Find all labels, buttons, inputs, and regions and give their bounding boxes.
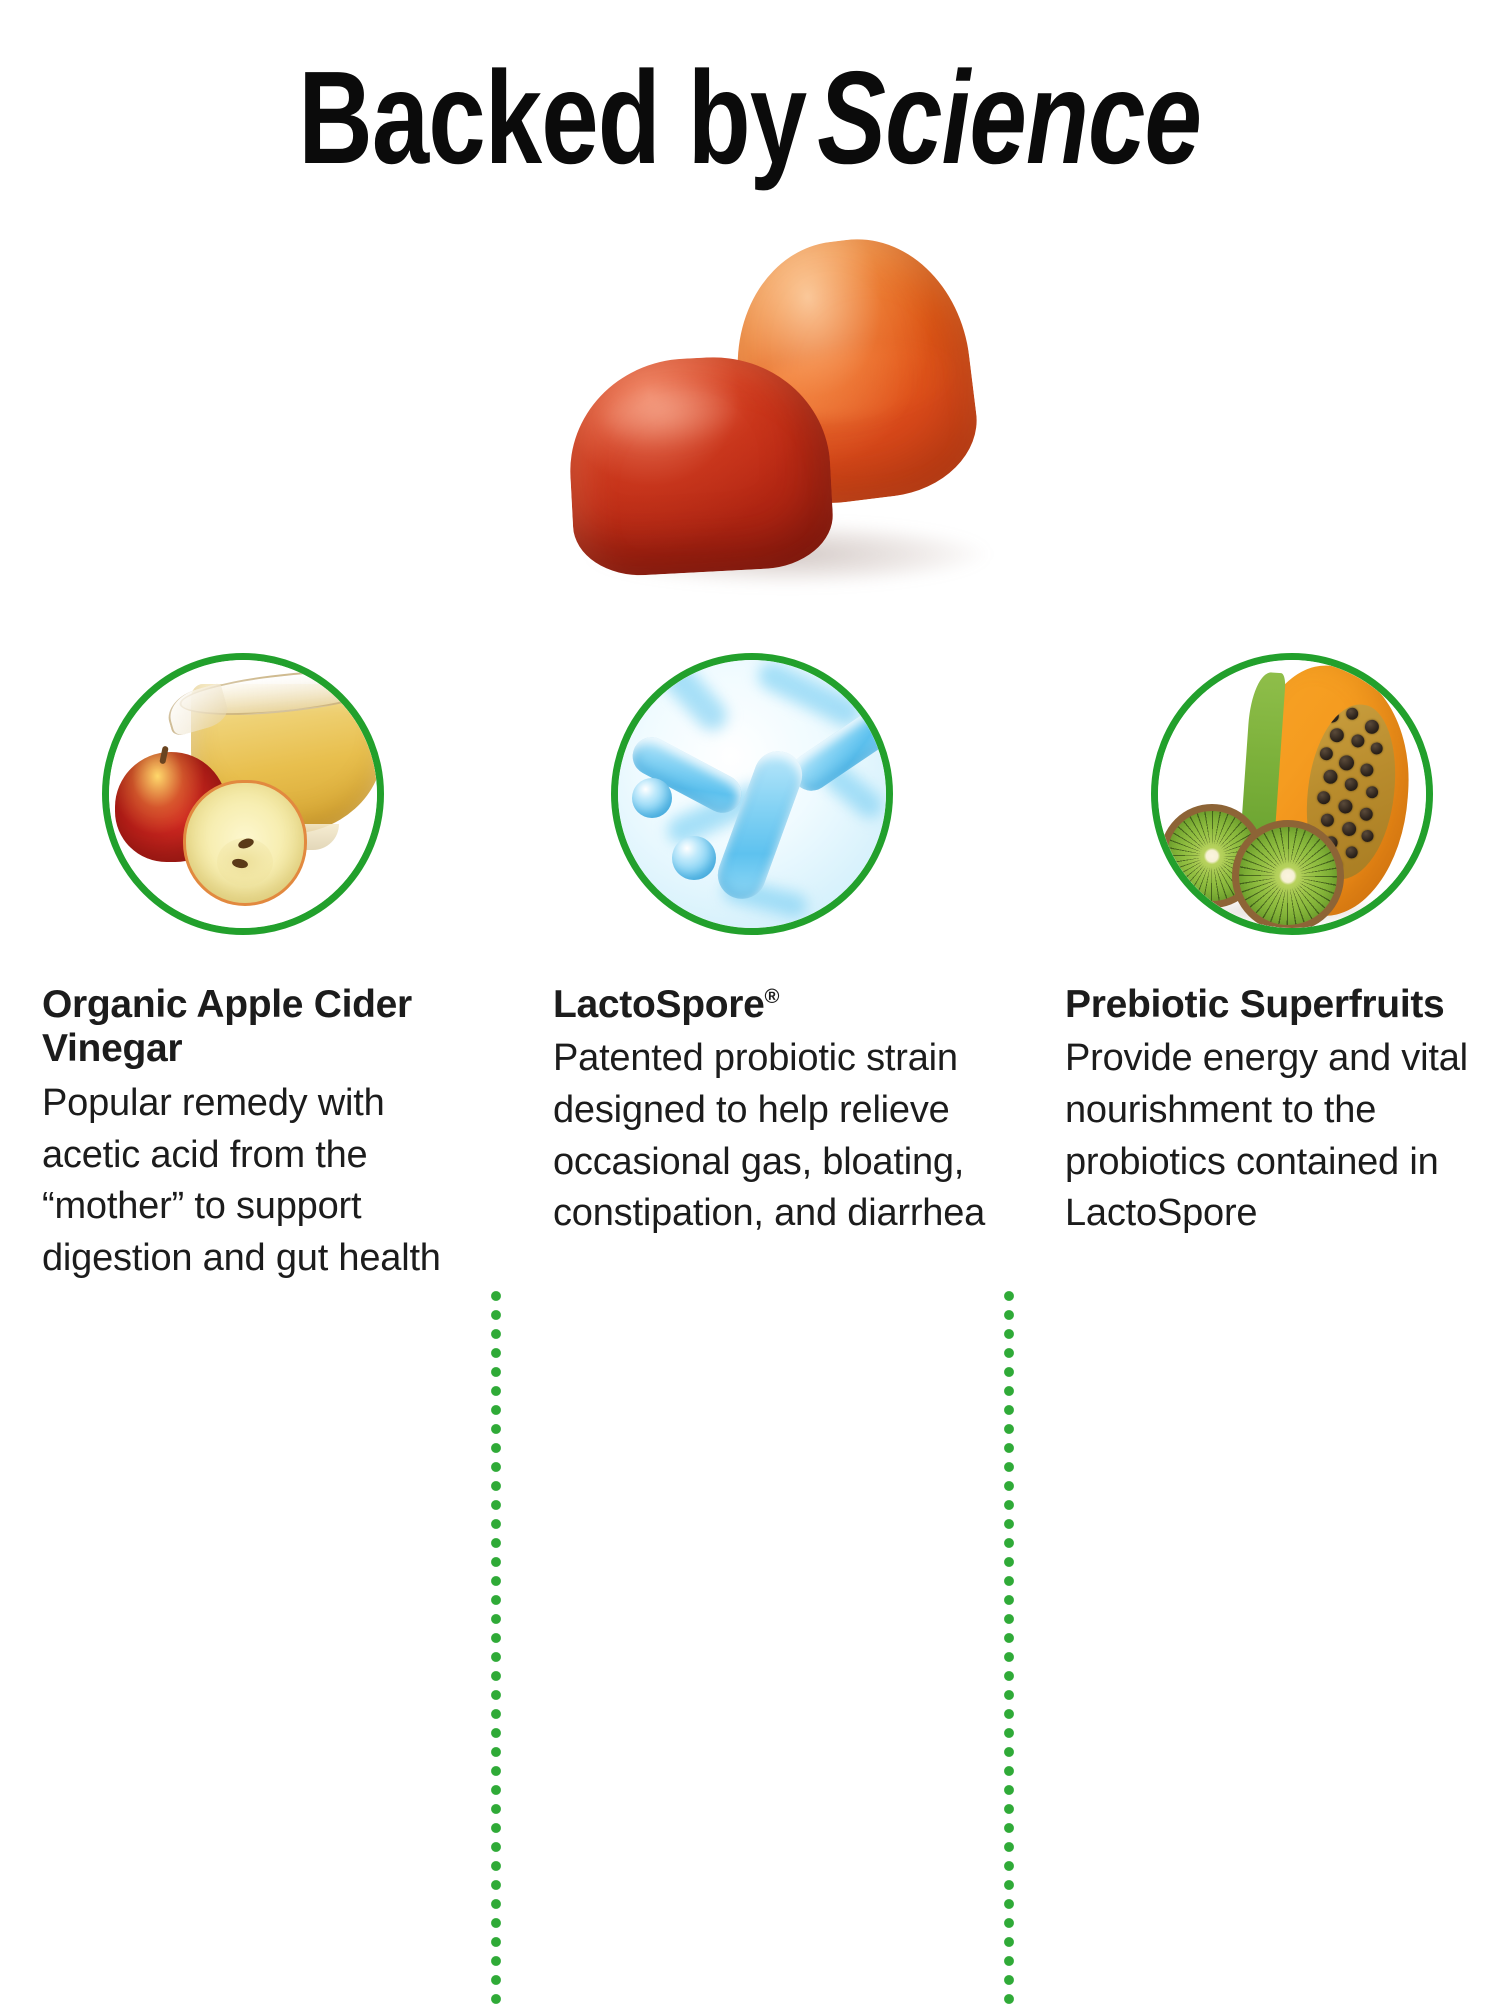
superfruits-papaya-kiwi-photo <box>1158 660 1426 928</box>
page-title-accent: Science <box>818 44 1202 191</box>
papaya-seed <box>1360 763 1374 777</box>
probiotic-bacteria-photo <box>618 660 886 928</box>
papaya-seed <box>1317 791 1331 805</box>
lactospore-heading: LactoSpore® <box>553 983 1001 1027</box>
papaya-seed <box>1345 846 1358 859</box>
benefit-column-superfruits: Prebiotic Superfruits Provide energy and… <box>1055 640 1500 1366</box>
papaya-seed <box>1344 777 1358 791</box>
lactospore-heading-text: LactoSpore <box>553 983 765 1026</box>
dotted-divider-1 <box>490 1290 502 2006</box>
bacteria-coccus <box>632 778 672 818</box>
papaya-seed <box>1346 707 1359 720</box>
bacteria-rod-blurred <box>647 660 734 737</box>
lactospore-text-block: LactoSpore® Patented probiotic strain de… <box>545 983 1005 1240</box>
papaya-seed <box>1338 799 1353 814</box>
registered-trademark-icon: ® <box>765 986 780 1008</box>
hero-product-image <box>546 222 1046 622</box>
papaya-seed <box>1319 747 1333 761</box>
benefit-columns: Organic Apple Cider Vinegar Popular reme… <box>0 640 1500 1366</box>
dotted-divider-2 <box>1003 1290 1015 2006</box>
apple-cider-vinegar-photo <box>109 660 377 928</box>
halved-apple <box>183 780 307 906</box>
superfruits-text-block: Prebiotic Superfruits Provide energy and… <box>1055 983 1500 1240</box>
papaya-seed <box>1370 742 1383 755</box>
lactospore-circle-frame <box>611 653 893 935</box>
papaya-seed <box>1341 821 1356 836</box>
papaya-seed <box>1365 786 1378 799</box>
papaya-seed <box>1325 709 1339 723</box>
papaya-seed <box>1323 769 1338 784</box>
acv-heading: Organic Apple Cider Vinegar <box>42 983 486 1072</box>
papaya-seed <box>1329 728 1344 743</box>
papaya-seed <box>1361 829 1374 842</box>
papaya-seed <box>1320 813 1334 827</box>
acv-body: Popular remedy with acetic acid from the… <box>42 1078 482 1285</box>
page-title-main: Backed by <box>299 44 807 191</box>
superfruits-heading: Prebiotic Superfruits <box>1065 983 1500 1027</box>
benefit-column-lactospore: LactoSpore® Patented probiotic strain de… <box>545 640 1005 1366</box>
papaya-seed <box>1351 734 1365 748</box>
kiwi-half <box>1232 820 1344 928</box>
superfruits-body: Provide energy and vital nourishment to … <box>1065 1033 1500 1240</box>
bacteria-coccus <box>672 836 716 880</box>
lactospore-body: Patented probiotic strain designed to he… <box>553 1033 1001 1240</box>
papaya-seed <box>1359 807 1373 821</box>
page-title: Backed byScience <box>0 52 1500 184</box>
papaya-seed <box>1338 755 1354 771</box>
kiwi-rays <box>1239 827 1337 925</box>
bacteria-rod-blurred <box>753 660 864 731</box>
acv-text-block: Organic Apple Cider Vinegar Popular reme… <box>30 983 490 1285</box>
superfruits-circle-frame <box>1151 653 1433 935</box>
acv-circle-frame <box>102 653 384 935</box>
papaya-seed <box>1364 719 1379 734</box>
benefit-column-acv: Organic Apple Cider Vinegar Popular reme… <box>30 640 490 1366</box>
